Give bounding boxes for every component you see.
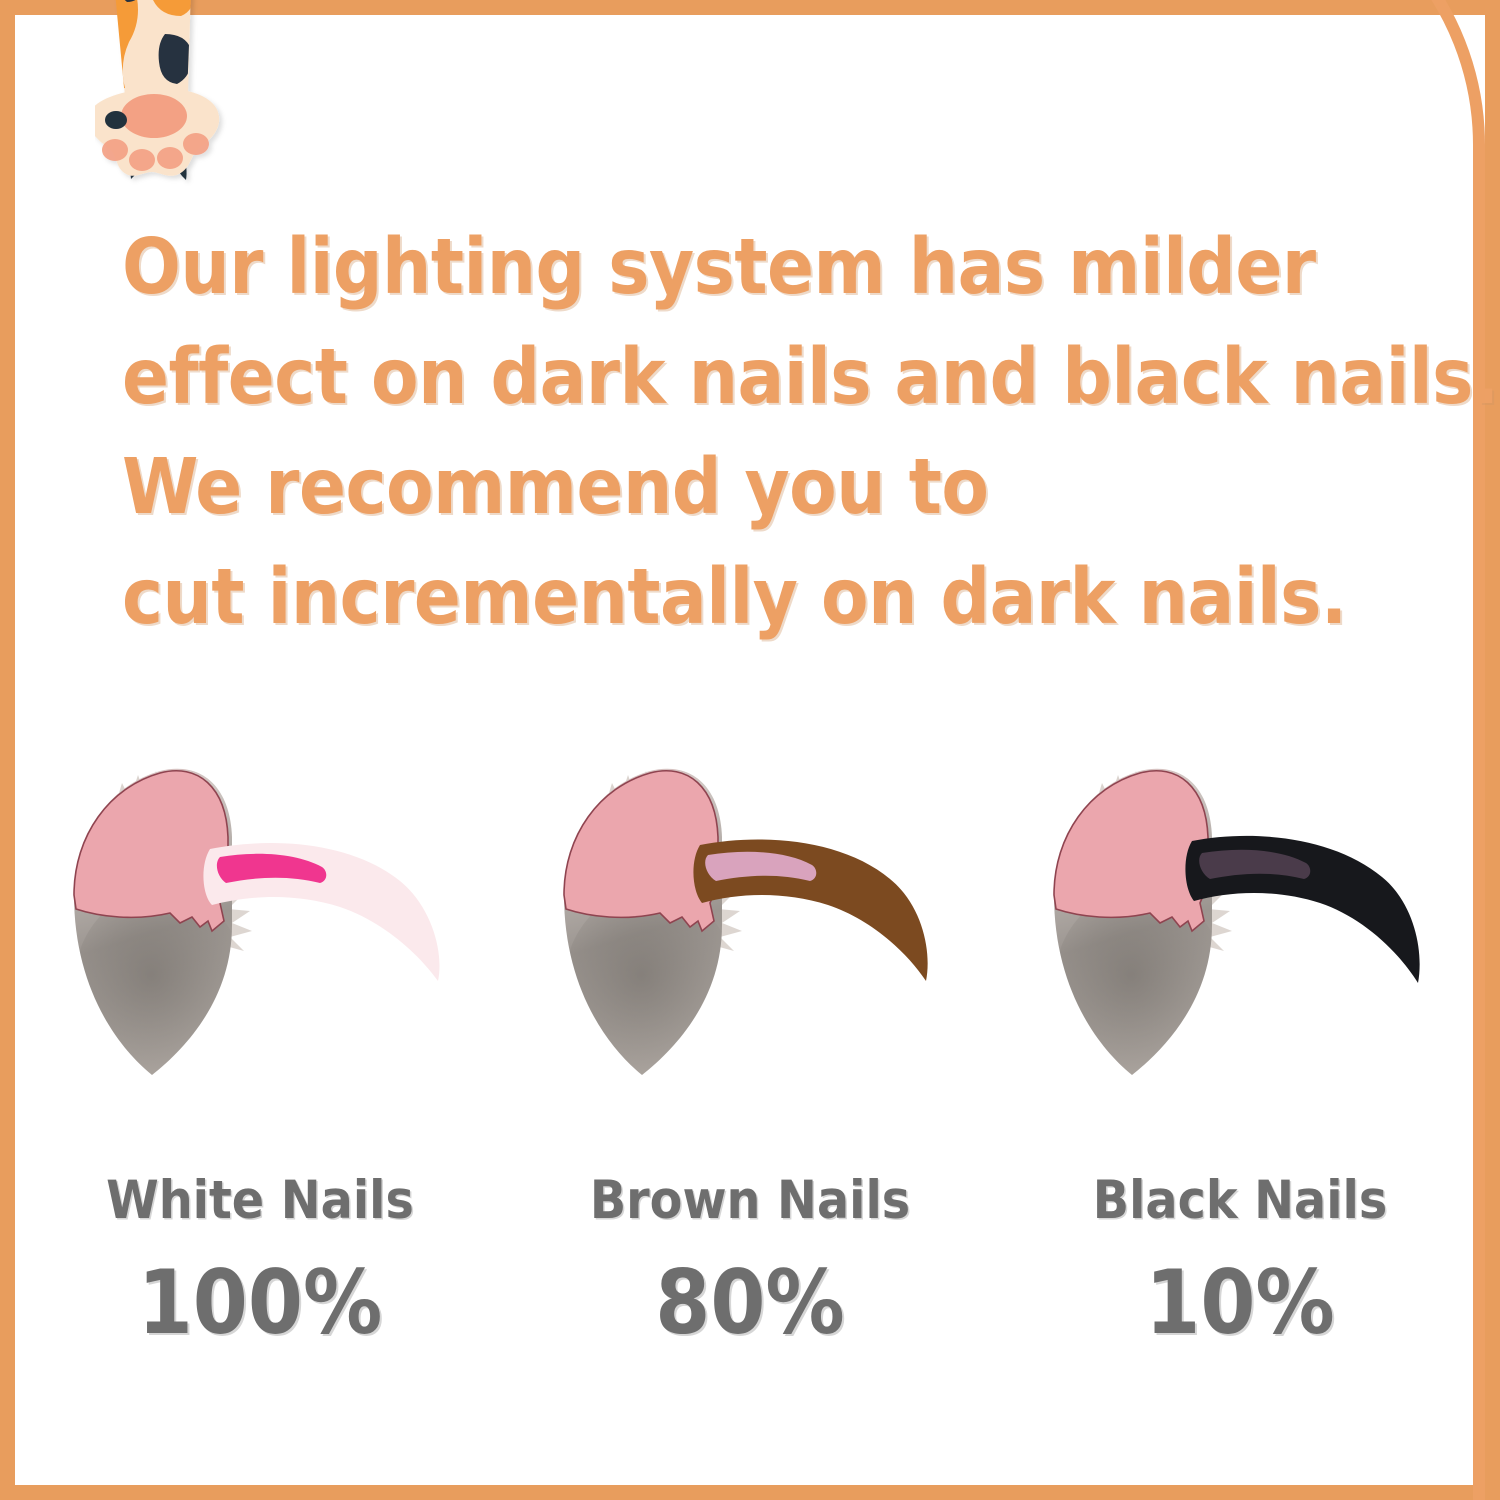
caption-percent-brown: 80% xyxy=(505,1251,995,1354)
nail-illustration-white xyxy=(15,745,505,1105)
cat-paw-icon xyxy=(95,0,230,197)
headline-line-3: We recommend you to xyxy=(122,433,1412,543)
caption-row: White Nails 100% Brown Nails 80% Black N… xyxy=(15,1170,1485,1354)
caption-label-black: Black Nails xyxy=(995,1170,1485,1231)
caption-percent-black: 10% xyxy=(995,1251,1485,1354)
caption-percent-white: 100% xyxy=(15,1251,505,1354)
nail-illustration-black xyxy=(995,745,1485,1105)
nail-illustration-brown xyxy=(505,745,995,1105)
poster-canvas: Our lighting system has milder effect on… xyxy=(0,0,1500,1500)
frame-border-left xyxy=(0,0,15,1500)
caption-brown-nails: Brown Nails 80% xyxy=(505,1170,995,1354)
headline-line-4: cut incrementally on dark nails. xyxy=(122,543,1412,653)
headline-block: Our lighting system has milder effect on… xyxy=(122,213,1412,653)
frame-border-right xyxy=(1485,0,1500,1500)
headline-line-2: effect on dark nails and black nails. xyxy=(122,323,1412,433)
caption-black-nails: Black Nails 10% xyxy=(995,1170,1485,1354)
nail-illustration-row xyxy=(15,745,1485,1105)
caption-label-white: White Nails xyxy=(15,1170,505,1231)
caption-label-brown: Brown Nails xyxy=(505,1170,995,1231)
frame-border-bottom xyxy=(0,1485,1500,1500)
headline-line-1: Our lighting system has milder xyxy=(122,213,1412,323)
caption-white-nails: White Nails 100% xyxy=(15,1170,505,1354)
